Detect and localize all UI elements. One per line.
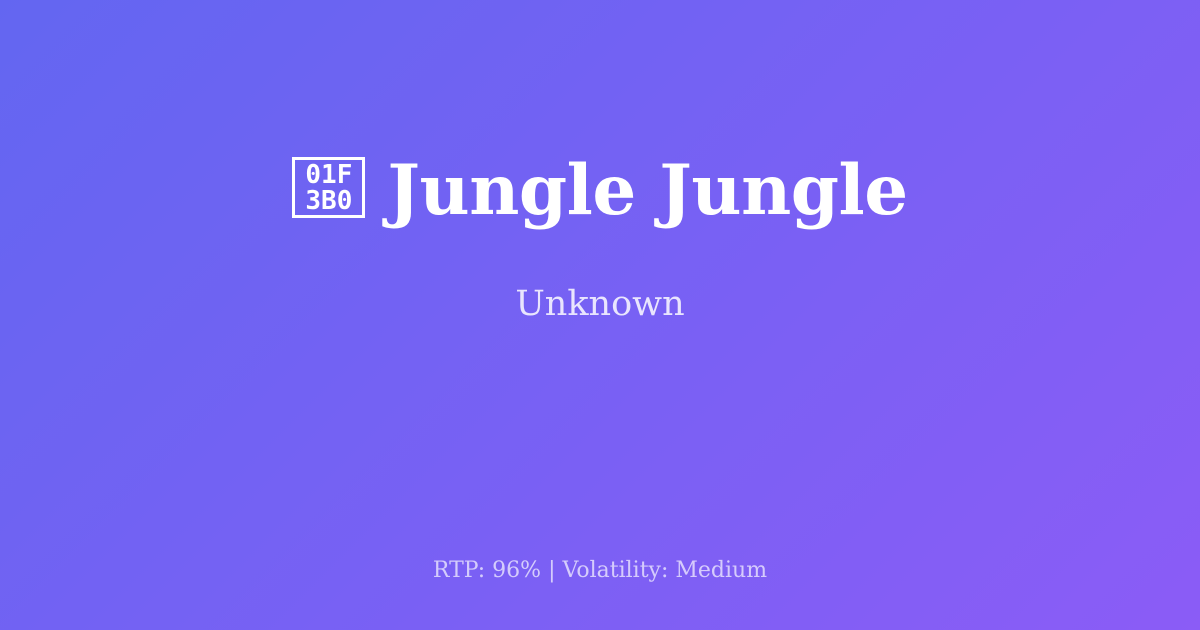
footer-bar: RTP: 96% | Volatility: Medium (0, 512, 1200, 630)
hero-block: 01F 3B0 Jungle Jungle Unknown (0, 0, 1200, 460)
tofu-codepoint-lower: 3B0 (305, 188, 352, 214)
page-subtitle: Unknown (515, 225, 684, 322)
tofu-codepoint-upper: 01F (305, 162, 352, 188)
page-title: Jungle Jungle (387, 156, 907, 225)
og-share-card: 01F 3B0 Jungle Jungle Unknown RTP: 96% |… (0, 0, 1200, 630)
slot-machine-icon: 01F 3B0 (292, 157, 365, 218)
title-row: 01F 3B0 Jungle Jungle (292, 156, 907, 225)
game-meta-line: RTP: 96% | Volatility: Medium (433, 560, 767, 582)
